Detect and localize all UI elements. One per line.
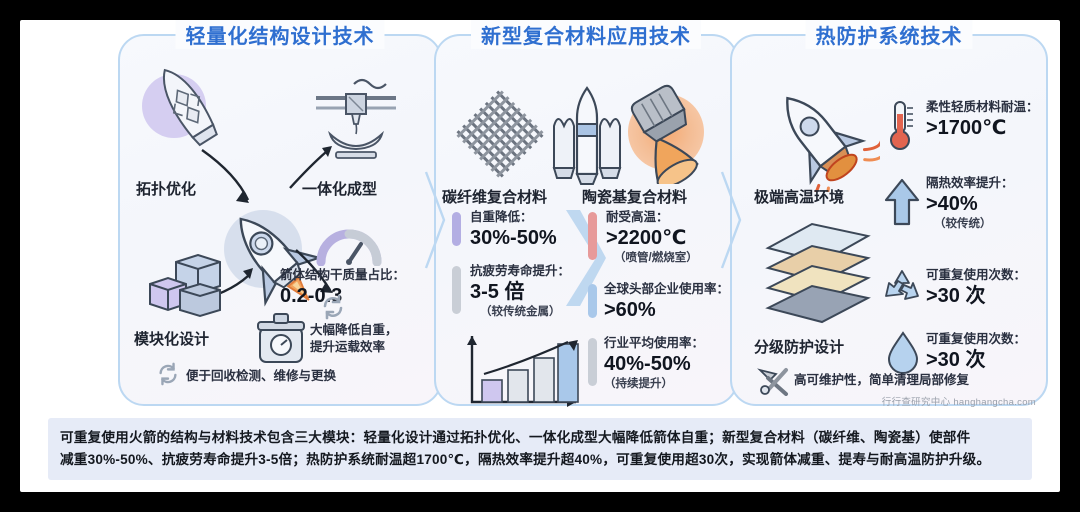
stat-caption: 自重降低： <box>470 210 557 226</box>
gauge-icon <box>316 222 382 266</box>
stat-value: >40% <box>926 192 1014 217</box>
stat-industry-average-usage: 行业平均使用率： 40%-50% （持续提升） <box>604 336 704 392</box>
stat-insulation-efficiency: 隔热效率提升： >40% （较传统） <box>926 176 1014 232</box>
stat-reuse-count-droplet: 可重复使用次数： >30 次 <box>926 332 1026 373</box>
stat-sub: （较传统） <box>926 217 1014 232</box>
summary-caption: 可重复使用火箭的结构与材料技术包含三大模块：轻量化设计通过拓扑优化、一体化成型大… <box>48 418 1032 480</box>
label-modular-design: 模块化设计 <box>134 328 209 349</box>
stat-sub: （持续提升） <box>604 377 704 392</box>
ceramic-nozzle-icon <box>616 82 722 184</box>
note-recycle-inspection: 便于回收检测、维修与更换 <box>186 368 336 385</box>
note-line-1: 大幅降低自重， 提升运载效率 <box>310 323 398 354</box>
accent-bar-red <box>588 212 597 260</box>
stat-value: >30 次 <box>926 348 1026 373</box>
layered-shield-icon <box>752 214 884 330</box>
stat-caption: 抗疲劳寿命提升： <box>470 264 570 280</box>
stat-flexible-material-temp: 柔性轻质材料耐温： >1700℃ <box>926 100 1039 141</box>
stat-caption: 柔性轻质材料耐温： <box>926 100 1039 116</box>
stat-value: 30%-50% <box>470 226 557 251</box>
caption-line-2: 减重30%-50%、抗疲劳寿命提升3-5倍；热防护系统耐温超1700℃，隔热效率… <box>60 449 1020 471</box>
panel-link-notch-right <box>720 170 744 270</box>
refresh-icon <box>156 362 180 386</box>
stat-high-temp-resistance: 耐受高温： >2200℃ （喷管/燃烧室） <box>606 210 698 266</box>
stat-sub: （较传统金属） <box>470 305 570 320</box>
reentry-rocket-icon <box>754 80 880 192</box>
stat-sub: （喷管/燃烧室） <box>606 251 698 266</box>
panel-thermal-protection: 热防护系统技术 极端高温环境 <box>730 34 1048 406</box>
launch-vehicle-icon <box>550 84 624 188</box>
stat-value: 3-5 倍 <box>470 280 570 305</box>
refresh-icon <box>320 294 346 320</box>
modular-blocks-icon <box>142 254 228 330</box>
stat-top-enterprise-usage: 全球头部企业使用率： >60% <box>604 282 729 323</box>
label-extreme-high-temp-env: 极端高温环境 <box>754 186 844 207</box>
panel-group: 轻量化结构设计技术 拓扑优化 <box>20 20 1060 410</box>
stat-value: >30 次 <box>926 284 1026 309</box>
stat-fatigue-life-increase: 抗疲劳寿命提升： 3-5 倍 （较传统金属） <box>470 264 570 320</box>
stat-caption: 可重复使用次数： <box>926 268 1026 284</box>
accent-bar-gray-2 <box>588 338 597 386</box>
stat-caption: 耐受高温： <box>606 210 698 226</box>
panel-title-1: 轻量化结构设计技术 <box>176 20 385 49</box>
growth-bar-chart <box>458 330 590 416</box>
note-weight-reduction: 大幅降低自重， 提升运载效率 <box>310 322 398 356</box>
panel-composite-materials: 新型复合材料应用技术 碳纤维复合材料 <box>434 34 738 406</box>
watermark: 行行查研究中心 hanghangcha.com <box>882 394 1036 408</box>
stat-reuse-count-recycle: 可重复使用次数： >30 次 <box>926 268 1026 309</box>
panel-title-3: 热防护系统技术 <box>806 20 973 49</box>
accent-bar-purple <box>452 212 461 246</box>
label-carbon-fiber-composite: 碳纤维复合材料 <box>442 186 547 207</box>
accent-bar-gray <box>452 266 461 314</box>
stat-value: 40%-50% <box>604 352 704 377</box>
panel-title-2: 新型复合材料应用技术 <box>471 20 701 49</box>
infographic-canvas: 轻量化结构设计技术 拓扑优化 <box>20 20 1060 492</box>
stat-caption: 箭体结构干质量占比： <box>280 268 405 284</box>
panel-lightweight-structure: 轻量化结构设计技术 拓扑优化 <box>118 34 442 406</box>
stat-self-weight-reduction: 自重降低： 30%-50% <box>470 210 557 251</box>
recycle-icon <box>882 268 922 306</box>
stat-caption: 全球头部企业使用率： <box>604 282 729 298</box>
carbon-fiber-weave-icon <box>452 86 548 182</box>
scale-icon <box>254 312 308 368</box>
up-arrow-icon <box>884 178 920 226</box>
thermometer-icon <box>884 98 918 152</box>
caption-line-1: 可重复使用火箭的结构与材料技术包含三大模块：轻量化设计通过拓扑优化、一体化成型大… <box>60 427 1020 449</box>
tools-icon <box>756 366 790 396</box>
panel-link-notch-left <box>424 170 448 270</box>
stat-value: >60% <box>604 298 729 323</box>
stat-value: >1700℃ <box>926 116 1039 141</box>
stat-caption: 隔热效率提升： <box>926 176 1014 192</box>
label-graded-protection-design: 分级防护设计 <box>754 336 844 357</box>
accent-bar-blue <box>588 284 597 318</box>
droplet-icon <box>886 330 920 374</box>
stat-value: >2200℃ <box>606 226 698 251</box>
label-ceramic-matrix-composite: 陶瓷基复合材料 <box>582 186 687 207</box>
stat-caption: 行业平均使用率： <box>604 336 704 352</box>
note-maintainability: 高可维护性，简单清理局部修复 <box>794 372 969 389</box>
stat-caption: 可重复使用次数： <box>926 332 1026 348</box>
